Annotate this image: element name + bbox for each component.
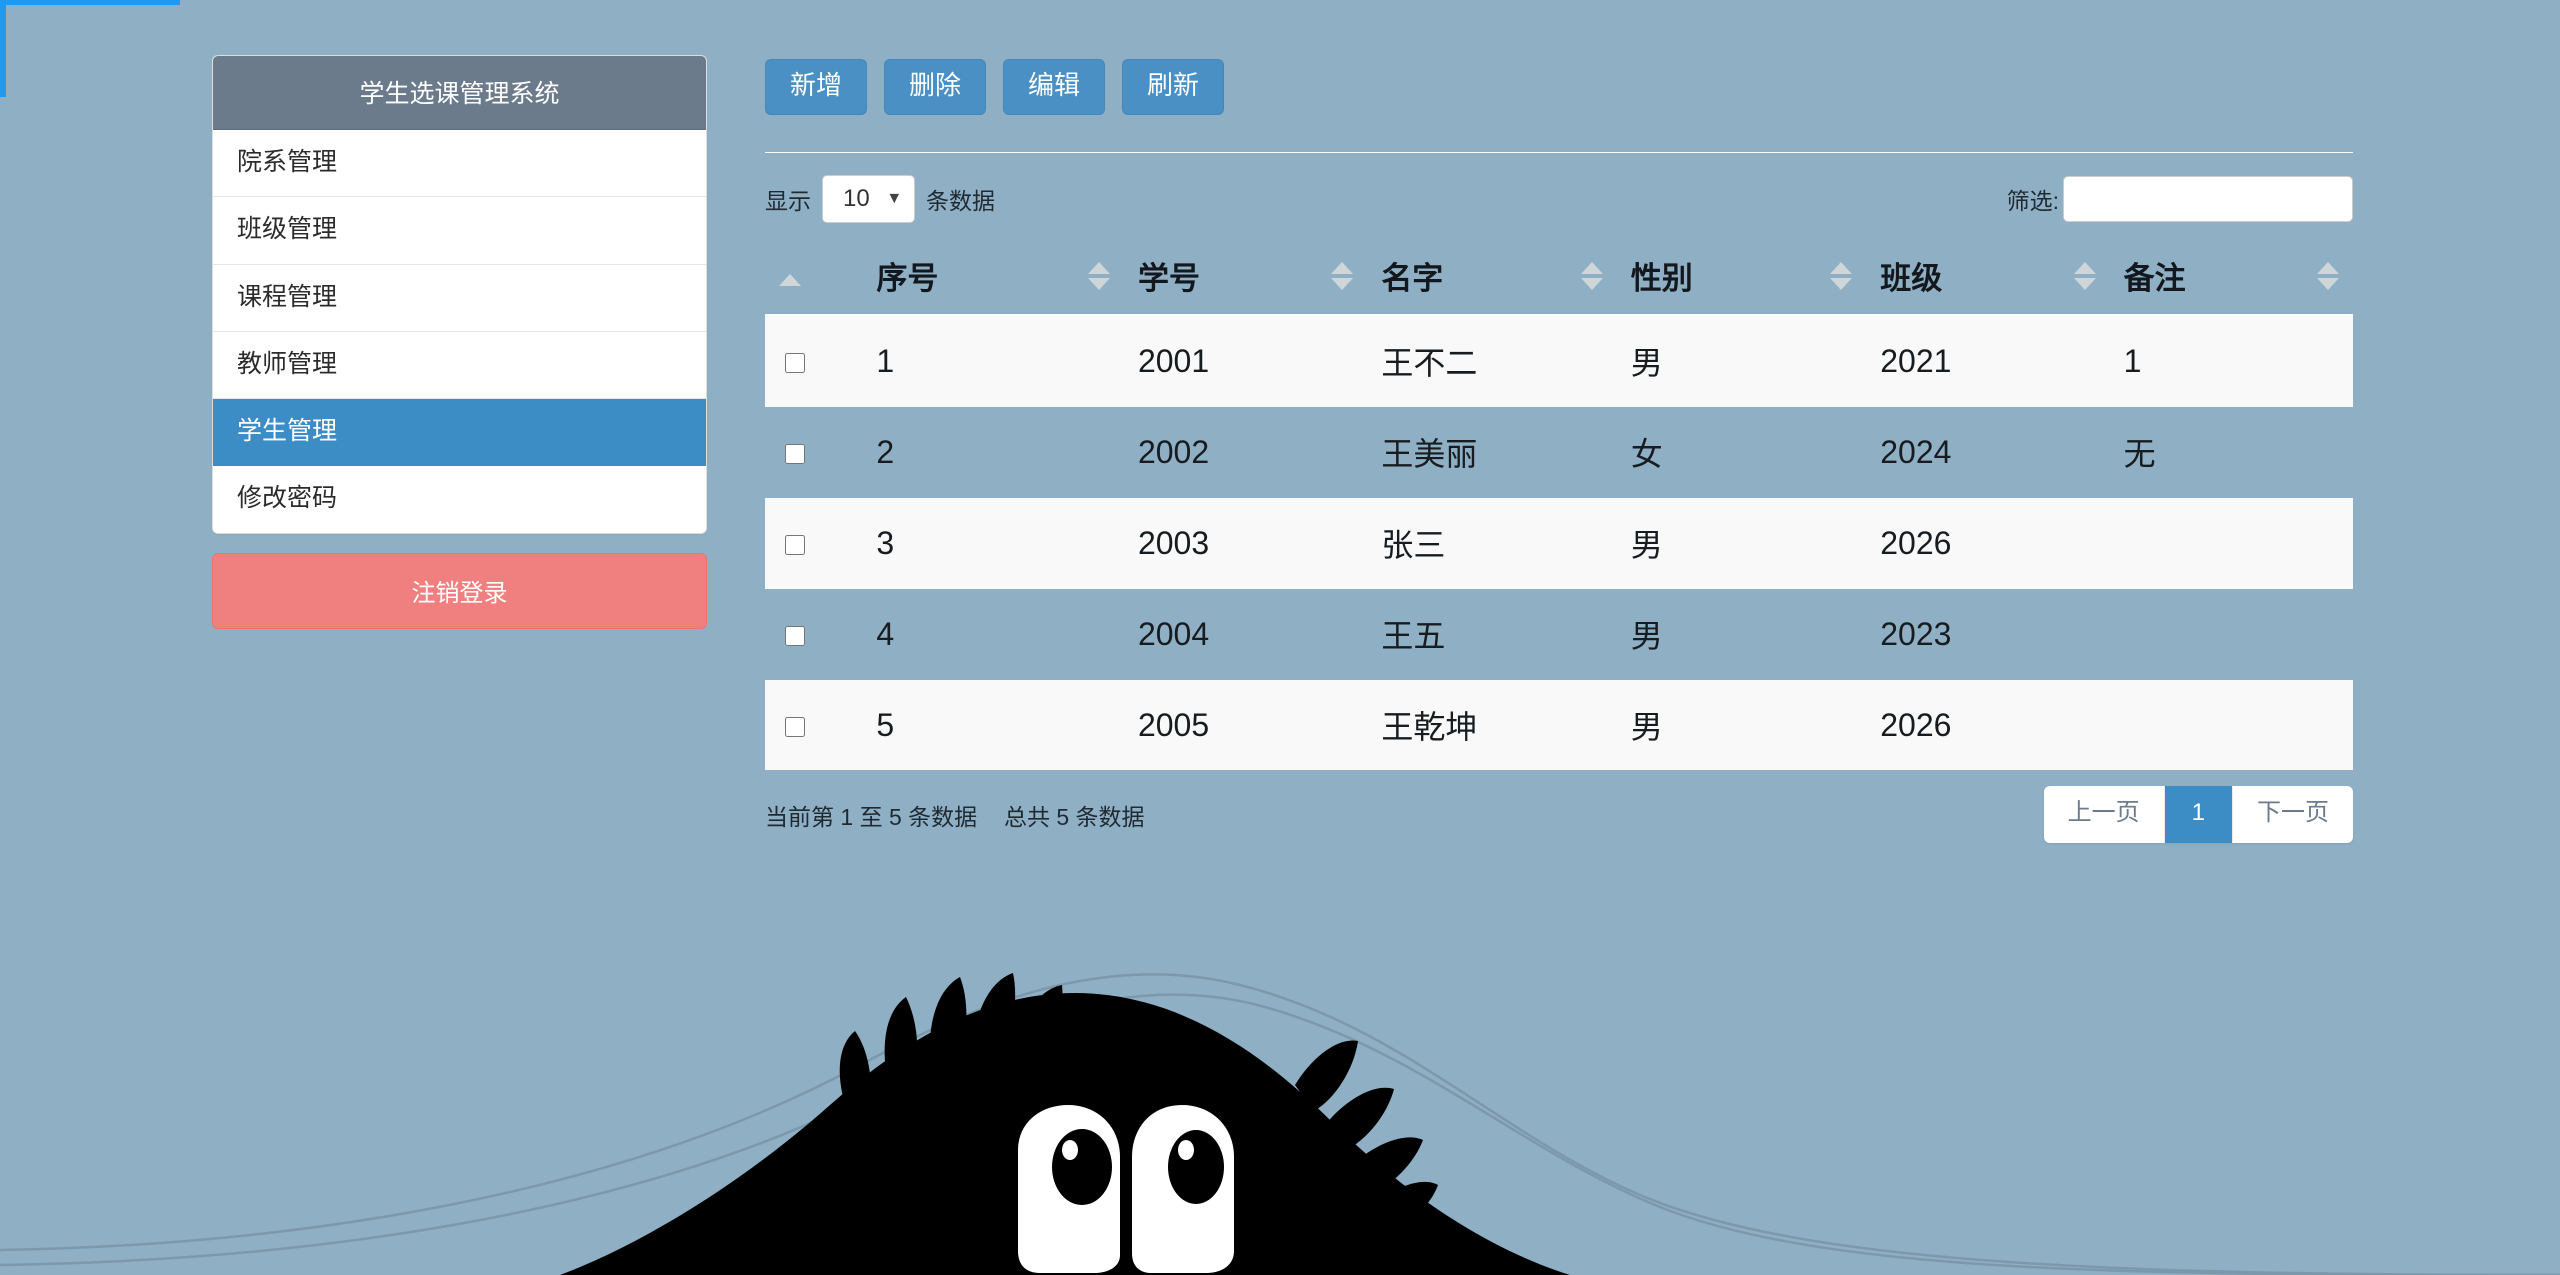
cell-name: 张三 <box>1367 498 1616 589</box>
column-label-index: 序号 <box>876 253 938 298</box>
column-header-note[interactable]: 备注 <box>2110 241 2353 315</box>
page-length-prefix-label: 显示 <box>765 182 811 216</box>
refresh-button[interactable]: 刷新 <box>1122 59 1224 115</box>
sort-icon <box>2074 262 2096 290</box>
cell-note <box>2110 680 2353 771</box>
table-header-row: 序号 学号 名字 <box>765 241 2353 315</box>
toolbar: 新增 删除 编辑 刷新 <box>765 55 2353 115</box>
sort-icon <box>1088 262 1110 290</box>
column-label-note: 备注 <box>2124 253 2186 298</box>
filter-input[interactable] <box>2063 176 2353 222</box>
row-checkbox[interactable] <box>785 717 805 737</box>
sort-icon <box>1331 262 1353 290</box>
row-select-cell[interactable] <box>765 315 862 407</box>
cell-student-id: 2004 <box>1124 589 1367 680</box>
decor-curve-1 <box>0 974 2560 1275</box>
focus-outline-top <box>0 0 180 5</box>
sidebar-item-student[interactable]: 学生管理 <box>213 399 706 466</box>
monster-glint-left <box>1062 1140 1078 1160</box>
cell-gender: 女 <box>1617 407 1866 498</box>
page-length-suffix-label: 条数据 <box>926 182 995 216</box>
row-checkbox[interactable] <box>785 444 805 464</box>
table-row[interactable]: 1 2001 王不二 男 2021 1 <box>765 315 2353 407</box>
table-footer: 当前第 1 至 5 条数据 总共 5 条数据 上一页 1 下一页 <box>765 786 2353 843</box>
cell-gender: 男 <box>1617 680 1866 771</box>
page-root: 学生选课管理系统 院系管理 班级管理 课程管理 教师管理 学生管理 修改密码 注… <box>0 0 2560 843</box>
add-button[interactable]: 新增 <box>765 59 867 115</box>
row-select-cell[interactable] <box>765 407 862 498</box>
monster-pupil-left <box>1052 1129 1112 1205</box>
sidebar-panel: 学生选课管理系统 院系管理 班级管理 课程管理 教师管理 学生管理 修改密码 <box>212 55 707 534</box>
table-row[interactable]: 5 2005 王乾坤 男 2026 <box>765 680 2353 771</box>
row-select-cell[interactable] <box>765 498 862 589</box>
table-body: 1 2001 王不二 男 2021 1 2 2002 王美丽 女 2024 无 <box>765 315 2353 770</box>
monster-body <box>560 973 1570 1275</box>
main-content: 新增 删除 编辑 刷新 显示 10 ▾ 条数据 筛选: <box>765 55 2353 843</box>
cell-class: 2021 <box>1866 315 2109 407</box>
cell-class: 2023 <box>1866 589 2109 680</box>
page-number-button-1[interactable]: 1 <box>2165 786 2233 843</box>
page-length-select[interactable]: 10 <box>822 175 915 223</box>
cell-class: 2024 <box>1866 407 2109 498</box>
filter-group: 筛选: <box>2007 176 2353 222</box>
sidebar: 学生选课管理系统 院系管理 班级管理 课程管理 教师管理 学生管理 修改密码 注… <box>212 55 707 629</box>
monster-glint-right <box>1178 1140 1194 1160</box>
page-length-select-wrap: 10 ▾ <box>822 175 915 223</box>
cell-name: 王美丽 <box>1367 407 1616 498</box>
column-header-student-id[interactable]: 学号 <box>1124 241 1367 315</box>
cell-student-id: 2001 <box>1124 315 1367 407</box>
row-checkbox[interactable] <box>785 535 805 555</box>
table-row[interactable]: 3 2003 张三 男 2026 <box>765 498 2353 589</box>
column-label-class: 班级 <box>1880 253 1942 298</box>
row-select-cell[interactable] <box>765 589 862 680</box>
cell-student-id: 2005 <box>1124 680 1367 771</box>
pagination: 上一页 1 下一页 <box>2044 786 2353 843</box>
decor-curve-2 <box>0 995 2560 1275</box>
row-checkbox[interactable] <box>785 626 805 646</box>
column-header-select-all[interactable] <box>765 241 862 315</box>
column-header-gender[interactable]: 性别 <box>1617 241 1866 315</box>
students-table: 序号 学号 名字 <box>765 241 2353 770</box>
pagination-info-total: 总共 5 条数据 <box>1004 804 1145 830</box>
cell-note <box>2110 498 2353 589</box>
cell-index: 2 <box>862 407 1124 498</box>
cell-index: 5 <box>862 680 1124 771</box>
sidebar-item-teacher[interactable]: 教师管理 <box>213 332 706 399</box>
column-label-gender: 性别 <box>1631 253 1693 298</box>
table-row[interactable]: 2 2002 王美丽 女 2024 无 <box>765 407 2353 498</box>
monster-pupil-right <box>1168 1130 1224 1204</box>
cell-class: 2026 <box>1866 498 2109 589</box>
sidebar-item-course[interactable]: 课程管理 <box>213 265 706 332</box>
cell-student-id: 2003 <box>1124 498 1367 589</box>
column-header-class[interactable]: 班级 <box>1866 241 2109 315</box>
row-select-cell[interactable] <box>765 680 862 771</box>
delete-button[interactable]: 删除 <box>884 59 986 115</box>
row-checkbox[interactable] <box>785 353 805 373</box>
next-page-button[interactable]: 下一页 <box>2233 786 2353 843</box>
column-header-name[interactable]: 名字 <box>1367 241 1616 315</box>
pagination-info: 当前第 1 至 5 条数据 总共 5 条数据 <box>765 798 1145 832</box>
mascot-illustration <box>0 945 2560 1275</box>
sort-asc-icon <box>779 274 801 286</box>
filter-label: 筛选: <box>2007 182 2059 216</box>
cell-name: 王乾坤 <box>1367 680 1616 771</box>
table-header: 序号 学号 名字 <box>765 241 2353 315</box>
cell-note: 无 <box>2110 407 2353 498</box>
monster-eyes <box>1018 1105 1234 1273</box>
table-controls: 显示 10 ▾ 条数据 筛选: <box>765 153 2353 223</box>
cell-name: 王不二 <box>1367 315 1616 407</box>
sidebar-item-department[interactable]: 院系管理 <box>213 130 706 197</box>
cell-gender: 男 <box>1617 498 1866 589</box>
prev-page-button[interactable]: 上一页 <box>2044 786 2165 843</box>
cell-gender: 男 <box>1617 589 1866 680</box>
cell-index: 1 <box>862 315 1124 407</box>
cell-index: 4 <box>862 589 1124 680</box>
sidebar-item-password[interactable]: 修改密码 <box>213 466 706 532</box>
cell-index: 3 <box>862 498 1124 589</box>
logout-button[interactable]: 注销登录 <box>212 553 707 629</box>
sidebar-title: 学生选课管理系统 <box>213 56 706 130</box>
page-length-group: 显示 10 ▾ 条数据 <box>765 175 995 223</box>
cell-student-id: 2002 <box>1124 407 1367 498</box>
edit-button[interactable]: 编辑 <box>1003 59 1105 115</box>
column-header-index[interactable]: 序号 <box>862 241 1124 315</box>
pagination-info-range: 当前第 1 至 5 条数据 <box>765 804 977 830</box>
sort-icon <box>2317 262 2339 290</box>
column-label-student-id: 学号 <box>1138 253 1200 298</box>
cell-note: 1 <box>2110 315 2353 407</box>
table-row[interactable]: 4 2004 王五 男 2023 <box>765 589 2353 680</box>
cell-gender: 男 <box>1617 315 1866 407</box>
sidebar-item-class[interactable]: 班级管理 <box>213 197 706 264</box>
column-label-name: 名字 <box>1381 253 1443 298</box>
sort-icon <box>1581 262 1603 290</box>
sort-icon <box>1830 262 1852 290</box>
cell-note <box>2110 589 2353 680</box>
cell-class: 2026 <box>1866 680 2109 771</box>
focus-outline-left <box>0 2 6 97</box>
cell-name: 王五 <box>1367 589 1616 680</box>
